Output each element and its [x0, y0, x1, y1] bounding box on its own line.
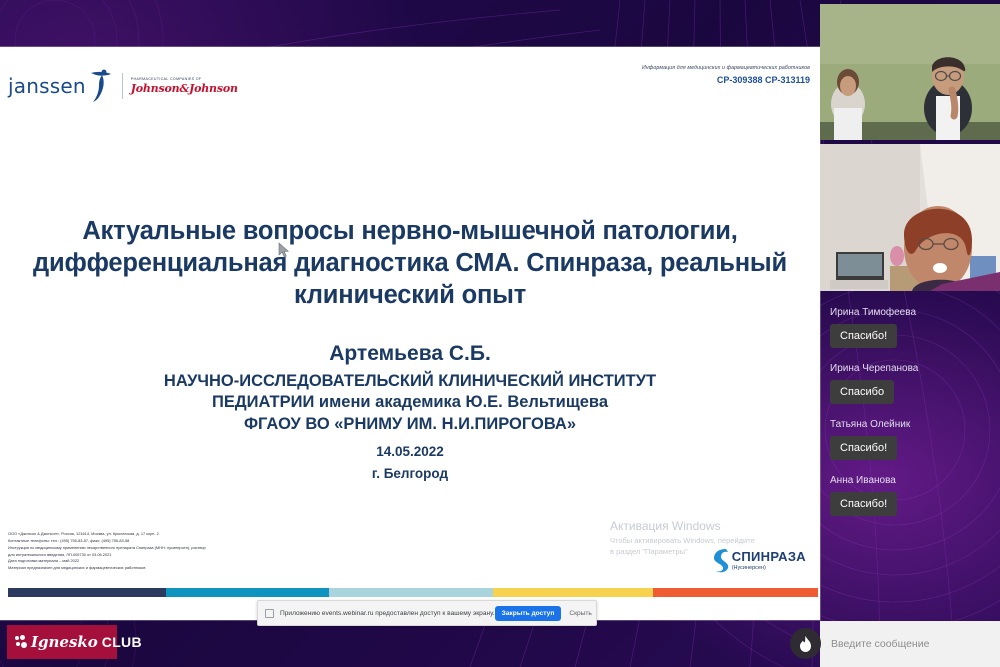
institution-line-1: НАУЧНО-ИССЛЕДОВАТЕЛЬСКИЙ КЛИНИЧЕСКИЙ ИНС…: [0, 371, 820, 392]
talk-date: 14.05.2022: [0, 444, 820, 459]
spinraza-swirl-icon: [710, 546, 732, 574]
color-bar-segment-1: [8, 588, 166, 597]
logo-divider: [122, 73, 123, 99]
slide-author-block: Артемьева С.Б. НАУЧНО-ИССЛЕДОВАТЕЛЬСКИЙ …: [0, 342, 820, 481]
color-bar-segment-2: [166, 588, 329, 597]
chat-bubble: Спасибо!: [830, 324, 897, 348]
color-bar-segment-3: [329, 588, 493, 597]
slide-header-note: Информация для медицинских и фармацевтич…: [642, 65, 810, 85]
user-avatar[interactable]: [790, 628, 821, 659]
chat-composer[interactable]: Введите сообщение: [820, 621, 1000, 667]
chat-author: Ирина Черепанова: [830, 363, 1000, 374]
chat-author: Ирина Тимофеева: [830, 307, 1000, 318]
hide-notification-button[interactable]: Скрыть: [569, 610, 592, 617]
slide-title: Актуальные вопросы нервно-мышечной патол…: [0, 215, 820, 311]
chat-message-input[interactable]: Введите сообщение: [820, 621, 1000, 667]
video-tile-1-frame: [820, 4, 1000, 140]
video-tile-speakers[interactable]: [820, 4, 1000, 140]
video-tile-2-frame: [820, 144, 1000, 291]
color-bar-segment-5: [653, 588, 818, 597]
video-tile-presenter[interactable]: [820, 144, 1000, 291]
flame-icon: [798, 635, 813, 653]
screen-share-notification[interactable]: Приложению events.webinar.ru предоставле…: [257, 600, 597, 626]
chat-message: Ирина Тимофеева Спасибо!: [820, 307, 1000, 363]
legal-line-1: ООО «Джонсон & Джонсон», Россия, 121614,…: [8, 531, 258, 538]
spinraza-logo: СПИНРАЗА (Нусинерсен): [710, 546, 806, 574]
chat-author: Татьяна Олейник: [830, 419, 1000, 430]
slide-color-bar: [8, 588, 818, 597]
legal-line-2: Контактные телефоны: тел.: (495) 755-83-…: [8, 538, 258, 545]
chat-panel[interactable]: Ирина Тимофеева Спасибо! Ирина Черепанов…: [820, 295, 1000, 625]
ignesko-wordmark: Ignesko: [31, 635, 98, 650]
chat-author: Анна Иванова: [830, 475, 1000, 486]
jj-lockup: PHARMACEUTICAL COMPANIES OF Johnson&John…: [131, 78, 238, 95]
spinraza-inn: (Нусинерсен): [732, 565, 806, 571]
audience-note: Информация для медицинских и фармацевтич…: [642, 65, 810, 71]
mouse-cursor-icon: [278, 242, 290, 260]
chat-bubble: Спасибо: [830, 380, 894, 404]
talk-city: г. Белгород: [0, 466, 820, 481]
pharma-tagline: PHARMACEUTICAL COMPANIES OF: [131, 78, 238, 82]
color-bar-segment-4: [493, 588, 653, 597]
approval-code: CP-309388 CP-313119: [642, 75, 810, 85]
legal-line-5: Дата подготовки материала – май 2022: [8, 558, 258, 565]
janssen-figure-icon: [88, 69, 114, 103]
chat-bubble: Спасибо!: [830, 436, 897, 460]
chat-message: Ирина Черепанова Спасибо: [820, 363, 1000, 419]
chat-bubble: Спасибо!: [830, 492, 897, 516]
spinraza-name: СПИНРАЗА: [732, 550, 806, 563]
institution-line-2: ПЕДИАТРИИ имени академика Ю.Е. Вельтищев…: [0, 392, 820, 413]
chat-message: Анна Иванова Спасибо!: [820, 475, 1000, 531]
screen-share-icon: [265, 609, 274, 618]
legal-line-6: Материал предназначен для медицинских и …: [8, 565, 258, 572]
right-sidebar: Ирина Тимофеева Спасибо! Ирина Черепанов…: [820, 0, 1000, 667]
ignesko-dots-icon: [15, 635, 28, 649]
windows-activation-title: Активация Windows: [610, 519, 760, 533]
screen-share-message: Приложению events.webinar.ru предоставле…: [280, 610, 495, 617]
legal-disclaimer: ООО «Джонсон & Джонсон», Россия, 121614,…: [8, 531, 258, 572]
janssen-wordmark: janssen: [8, 74, 86, 98]
shared-slide[interactable]: janssen PHARMACEUTICAL COMPANIES OF John…: [0, 47, 820, 620]
johnson-johnson-wordmark: Johnson&Johnson: [131, 83, 238, 94]
club-wordmark: CLUB: [102, 635, 142, 649]
legal-line-3: Инструкция по медицинскому применению ле…: [8, 545, 258, 552]
janssen-logo: janssen PHARMACEUTICAL COMPANIES OF John…: [8, 69, 238, 103]
author-name: Артемьева С.Б.: [0, 342, 820, 366]
chat-message: Татьяна Олейник Спасибо!: [820, 419, 1000, 475]
stop-sharing-button[interactable]: Закрыть доступ: [495, 606, 562, 621]
institution-line-3: ФГАОУ ВО «РНИМУ ИМ. Н.И.ПИРОГОВА»: [0, 414, 820, 435]
ignesko-club-logo: Ignesko CLUB: [7, 625, 117, 659]
legal-line-4: для интратекального введения, ЛП-005730 …: [8, 552, 258, 559]
chat-message-list: Ирина Тимофеева Спасибо! Ирина Черепанов…: [820, 295, 1000, 531]
